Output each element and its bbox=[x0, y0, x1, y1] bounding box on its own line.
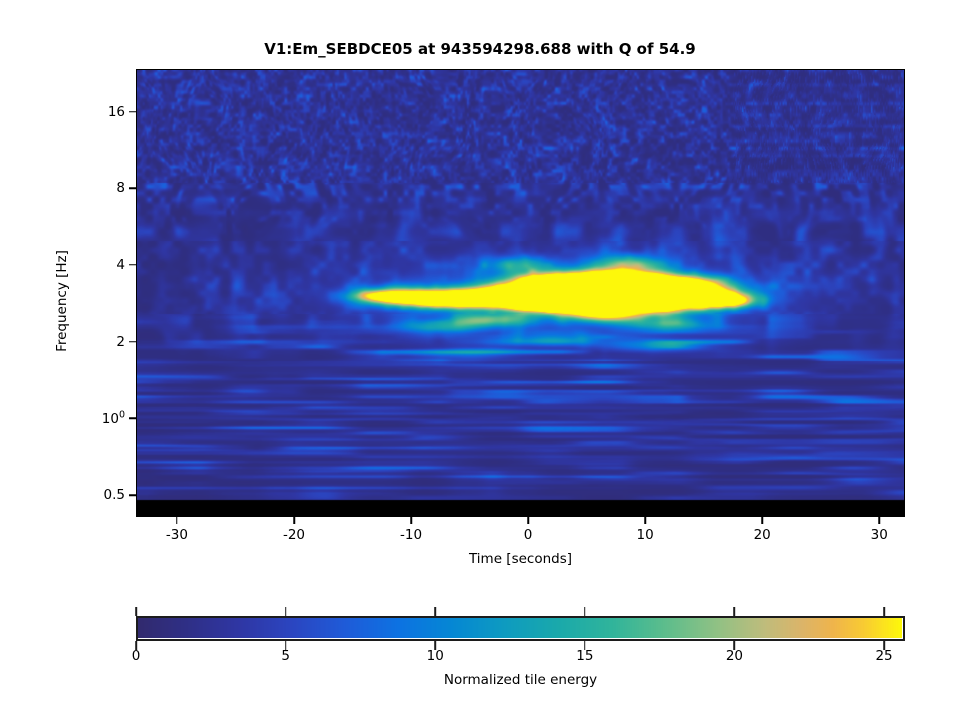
y-tick-label: 100 bbox=[40, 410, 125, 428]
x-tick-mark bbox=[410, 517, 412, 524]
y-tick-label: 16 bbox=[40, 104, 125, 120]
colorbar-tick-label: 20 bbox=[726, 648, 743, 664]
y-axis-label: Frequency [Hz] bbox=[54, 201, 70, 401]
colorbar-tick-mark bbox=[734, 607, 736, 616]
x-tick-mark bbox=[527, 517, 529, 524]
y-tick-label: 8 bbox=[40, 180, 125, 196]
y-tick-mark bbox=[129, 494, 136, 496]
x-axis-label: Time [seconds] bbox=[136, 551, 905, 567]
colorbar-tick-label: 25 bbox=[875, 648, 892, 664]
x-tick-mark bbox=[176, 517, 178, 524]
x-tick-label: -30 bbox=[166, 527, 188, 543]
spectrogram-axes bbox=[136, 69, 905, 517]
colorbar-tick-label: 10 bbox=[427, 648, 444, 664]
x-tick-label: -10 bbox=[400, 527, 422, 543]
y-tick-label: 0.5 bbox=[40, 487, 125, 503]
x-tick-mark bbox=[293, 517, 295, 524]
colorbar-tick-mark bbox=[285, 607, 287, 616]
colorbar-label: Normalized tile energy bbox=[136, 672, 905, 688]
y-tick-mark bbox=[129, 341, 136, 343]
colorbar-tick-label: 0 bbox=[132, 648, 141, 664]
colorbar-gradient bbox=[138, 618, 902, 638]
x-tick-mark bbox=[644, 517, 646, 524]
colorbar-tick-mark bbox=[434, 607, 436, 616]
x-tick-label: 20 bbox=[754, 527, 771, 543]
x-tick-mark bbox=[761, 517, 763, 524]
colorbar bbox=[136, 616, 905, 641]
colorbar-tick-label: 15 bbox=[576, 648, 593, 664]
colorbar-tick-mark bbox=[135, 607, 137, 616]
x-tick-label: -20 bbox=[283, 527, 305, 543]
y-tick-mark bbox=[129, 187, 136, 189]
colorbar-tick-label: 5 bbox=[281, 648, 290, 664]
colorbar-tick-mark bbox=[883, 607, 885, 616]
spectrogram-image bbox=[137, 70, 905, 517]
y-tick-mark bbox=[129, 418, 136, 420]
colorbar-tick-mark bbox=[584, 607, 586, 616]
page-title: V1:Em_SEBDCE05 at 943594298.688 with Q o… bbox=[0, 40, 960, 58]
x-tick-label: 0 bbox=[524, 527, 533, 543]
y-tick-mark bbox=[129, 111, 136, 113]
x-tick-label: 30 bbox=[871, 527, 888, 543]
y-tick-label: 4 bbox=[40, 257, 125, 273]
x-tick-mark bbox=[878, 517, 880, 524]
y-tick-label: 2 bbox=[40, 334, 125, 350]
x-tick-label: 10 bbox=[637, 527, 654, 543]
y-tick-mark bbox=[129, 264, 136, 266]
